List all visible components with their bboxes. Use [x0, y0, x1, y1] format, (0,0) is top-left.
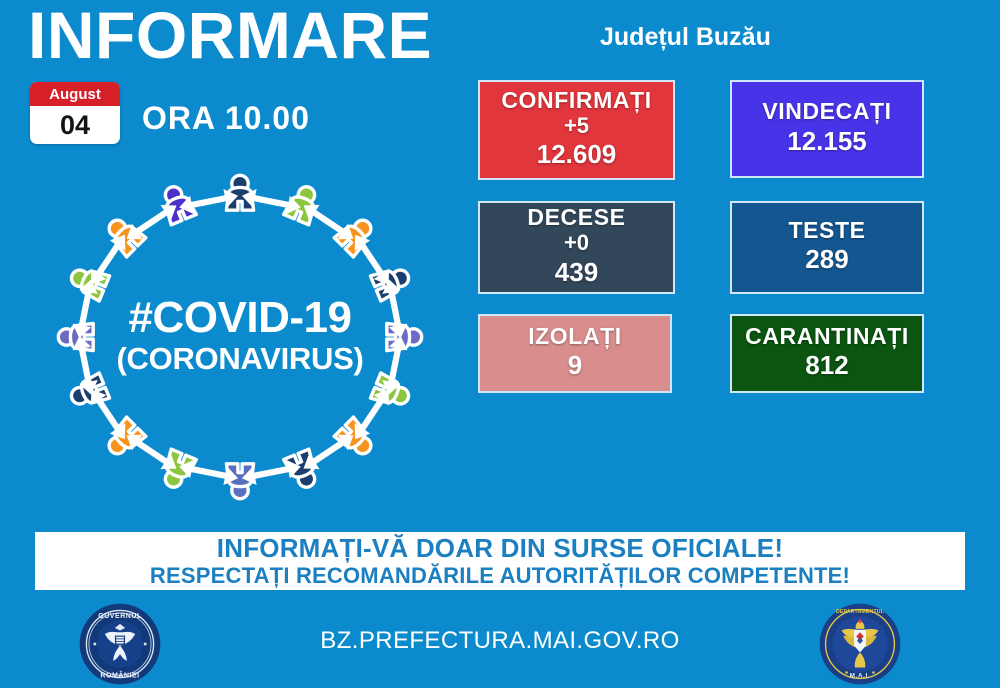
- departamentul-situatii-urgenta-logo-icon: DEPARTAMENTUL M.A.I.: [818, 602, 902, 686]
- report-hour-label: ORA 10.00: [142, 100, 310, 137]
- stat-value-confirmati: 12.609: [537, 138, 617, 172]
- county-label: Județul Buzău: [600, 23, 771, 52]
- stat-box-decese: DECESE +0 439: [478, 201, 675, 294]
- stat-box-carantinati: CARANTINAȚI 812: [730, 314, 924, 393]
- stat-label-vindecati: VINDECAȚI: [762, 99, 891, 125]
- stat-delta-decese: +0: [564, 231, 589, 256]
- stat-box-teste: TESTE 289: [730, 201, 924, 294]
- advice-line-2: RESPECTAȚI RECOMANDĂRILE AUTORITĂȚILOR C…: [150, 563, 850, 588]
- stat-label-confirmati: CONFIRMAȚI: [501, 88, 651, 114]
- stat-value-teste: 289: [805, 243, 848, 277]
- svg-text:GUVERNUL: GUVERNUL: [98, 613, 142, 620]
- svg-text:ROMÂNIEI: ROMÂNIEI: [100, 671, 139, 680]
- stat-value-carantinati: 812: [805, 349, 848, 383]
- covid-circle-graphic: [35, 172, 445, 502]
- stat-label-izolati: IZOLAȚI: [528, 324, 622, 350]
- stat-box-vindecati: VINDECAȚI 12.155: [730, 80, 924, 178]
- advice-line-1: INFORMAȚI-VĂ DOAR DIN SURSE OFICIALE!: [217, 534, 783, 563]
- svg-text:M.A.I.: M.A.I.: [850, 673, 871, 680]
- stat-label-decese: DECESE: [527, 205, 625, 231]
- stat-value-izolati: 9: [568, 349, 582, 383]
- stat-delta-confirmati: +5: [564, 114, 589, 139]
- page-title: INFORMARE: [28, 2, 432, 68]
- calendar-month-label: August: [30, 82, 120, 106]
- guvernul-romaniei-logo-icon: GUVERNUL ROMÂNIEI: [78, 602, 162, 686]
- stat-value-decese: 439: [555, 256, 598, 290]
- people-ring: [58, 175, 421, 498]
- svg-text:DEPARTAMENTUL: DEPARTAMENTUL: [836, 609, 885, 615]
- official-sources-banner: INFORMAȚI-VĂ DOAR DIN SURSE OFICIALE! RE…: [35, 532, 965, 590]
- stat-label-carantinati: CARANTINAȚI: [745, 324, 909, 350]
- date-calendar: August 04: [30, 82, 120, 144]
- stat-label-teste: TESTE: [788, 218, 865, 244]
- calendar-day-number: 04: [30, 106, 120, 144]
- stat-box-confirmati: CONFIRMAȚI +5 12.609: [478, 80, 675, 180]
- stat-value-vindecati: 12.155: [787, 125, 867, 159]
- stat-box-izolati: IZOLAȚI 9: [478, 314, 672, 393]
- covid-information-poster: INFORMARE Județul Buzău August 04 ORA 10…: [0, 0, 1000, 688]
